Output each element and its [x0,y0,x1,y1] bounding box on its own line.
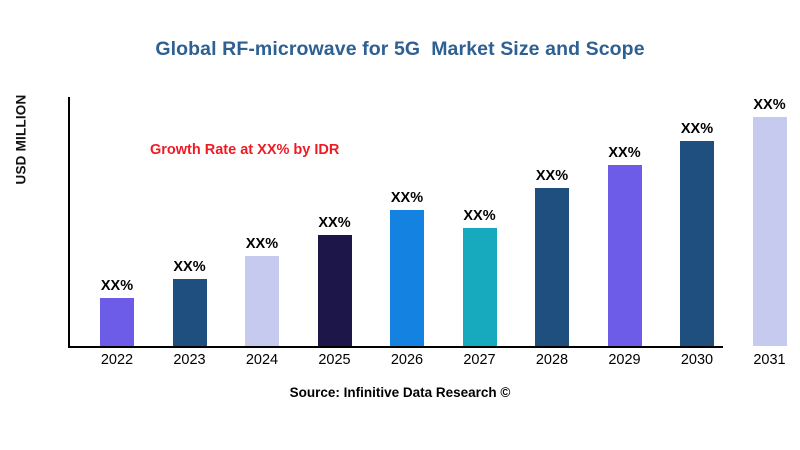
bar-2022[interactable] [100,298,134,346]
bar-value-label-2030: XX% [681,121,713,137]
bar-2024[interactable] [245,256,279,346]
x-tick-2029: 2029 [595,352,655,368]
bar-group-2031[interactable]: XX% [753,117,787,346]
bar-2030[interactable] [680,141,714,346]
x-tick-2023: 2023 [160,352,220,368]
x-tick-2022: 2022 [87,352,147,368]
page-title: Global RF-microwave for 5G Market Size a… [0,38,800,61]
x-tick-2025: 2025 [305,352,365,368]
bar-value-label-2031: XX% [753,97,785,113]
x-tick-2031: 2031 [740,352,800,368]
bar-2031[interactable] [753,117,787,346]
x-axis-line [68,346,723,348]
bar-value-label-2024: XX% [246,236,278,252]
bar-2028[interactable] [535,188,569,346]
bar-group-2022[interactable]: XX% [100,298,134,346]
bar-value-label-2022: XX% [101,278,133,294]
bar-group-2027[interactable]: XX% [463,228,497,346]
bar-value-label-2027: XX% [463,208,495,224]
bar-2025[interactable] [318,235,352,346]
x-tick-2027: 2027 [450,352,510,368]
bar-group-2026[interactable]: XX% [390,210,424,346]
bar-group-2025[interactable]: XX% [318,235,352,346]
source-note: Source: Infinitive Data Research © [0,385,800,400]
y-axis-title: USD MILLION [14,75,29,205]
bar-value-label-2023: XX% [173,259,205,275]
x-tick-2026: 2026 [377,352,437,368]
bar-group-2030[interactable]: XX% [680,141,714,346]
growth-rate-annotation: Growth Rate at XX% by IDR [150,142,339,158]
chart-figure: Global RF-microwave for 5G Market Size a… [0,0,800,450]
y-axis-line [68,97,70,348]
bar-value-label-2028: XX% [536,168,568,184]
bar-group-2028[interactable]: XX% [535,188,569,346]
bar-2027[interactable] [463,228,497,346]
bar-2029[interactable] [608,165,642,346]
bar-value-label-2025: XX% [318,215,350,231]
bar-2026[interactable] [390,210,424,346]
bar-group-2023[interactable]: XX% [173,279,207,346]
x-tick-2028: 2028 [522,352,582,368]
bar-2023[interactable] [173,279,207,346]
x-tick-2024: 2024 [232,352,292,368]
x-tick-2030: 2030 [667,352,727,368]
bar-value-label-2029: XX% [608,145,640,161]
bar-value-label-2026: XX% [391,190,423,206]
bar-group-2029[interactable]: XX% [608,165,642,346]
bar-group-2024[interactable]: XX% [245,256,279,346]
plot-area: Growth Rate at XX% by IDR XX%XX%XX%XX%XX… [68,97,790,348]
